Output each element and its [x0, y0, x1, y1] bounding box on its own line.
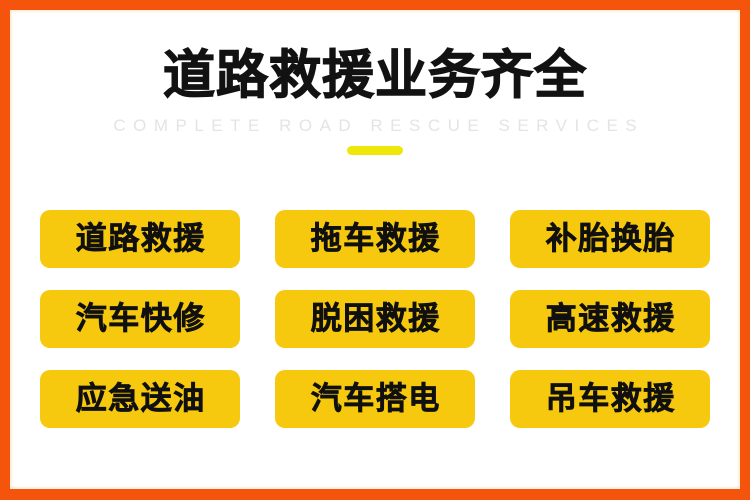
- service-button-quick-auto-repair[interactable]: 汽车快修: [40, 290, 240, 348]
- service-button-highway-rescue[interactable]: 高速救援: [510, 290, 710, 348]
- frame-band-right: [740, 0, 750, 500]
- service-button-label: 汽车搭电: [309, 382, 441, 416]
- service-button-label: 拖车救援: [309, 222, 441, 256]
- page-title: 道路救援业务齐全: [10, 48, 740, 104]
- service-button-emergency-fuel-delivery[interactable]: 应急送油: [40, 370, 240, 428]
- frame-band-left: [0, 0, 10, 500]
- service-button-tire-repair-change[interactable]: 补胎换胎: [510, 210, 710, 268]
- poster-header: 道路救援业务齐全 COMPLETE ROAD RESCUE SERVICES: [10, 10, 740, 156]
- yellow-pill-divider: [347, 146, 403, 155]
- service-button-tow-rescue[interactable]: 拖车救援: [275, 210, 475, 268]
- page-subtitle: COMPLETE ROAD RESCUE SERVICES: [10, 116, 740, 135]
- service-button-label: 吊车救援: [544, 382, 676, 416]
- service-button-label: 汽车快修: [74, 302, 206, 336]
- service-button-label: 道路救援: [74, 222, 206, 256]
- service-button-grid: 道路救援 拖车救援 补胎换胎 汽车快修 脱困救援 高速救援 应急送油 汽车搭电 …: [40, 210, 710, 428]
- divider-container: [10, 144, 740, 156]
- service-button-road-rescue[interactable]: 道路救援: [40, 210, 240, 268]
- service-button-label: 高速救援: [544, 302, 676, 336]
- service-button-crane-rescue[interactable]: 吊车救援: [510, 370, 710, 428]
- frame-band-top: [0, 0, 750, 10]
- service-button-label: 应急送油: [74, 382, 206, 416]
- service-button-jump-start[interactable]: 汽车搭电: [275, 370, 475, 428]
- frame-band-bottom: [0, 489, 750, 500]
- service-button-label: 补胎换胎: [544, 222, 676, 256]
- service-button-extrication-rescue[interactable]: 脱困救援: [275, 290, 475, 348]
- promo-poster: 道路救援业务齐全 COMPLETE ROAD RESCUE SERVICES 道…: [0, 0, 750, 500]
- service-button-label: 脱困救援: [309, 302, 441, 336]
